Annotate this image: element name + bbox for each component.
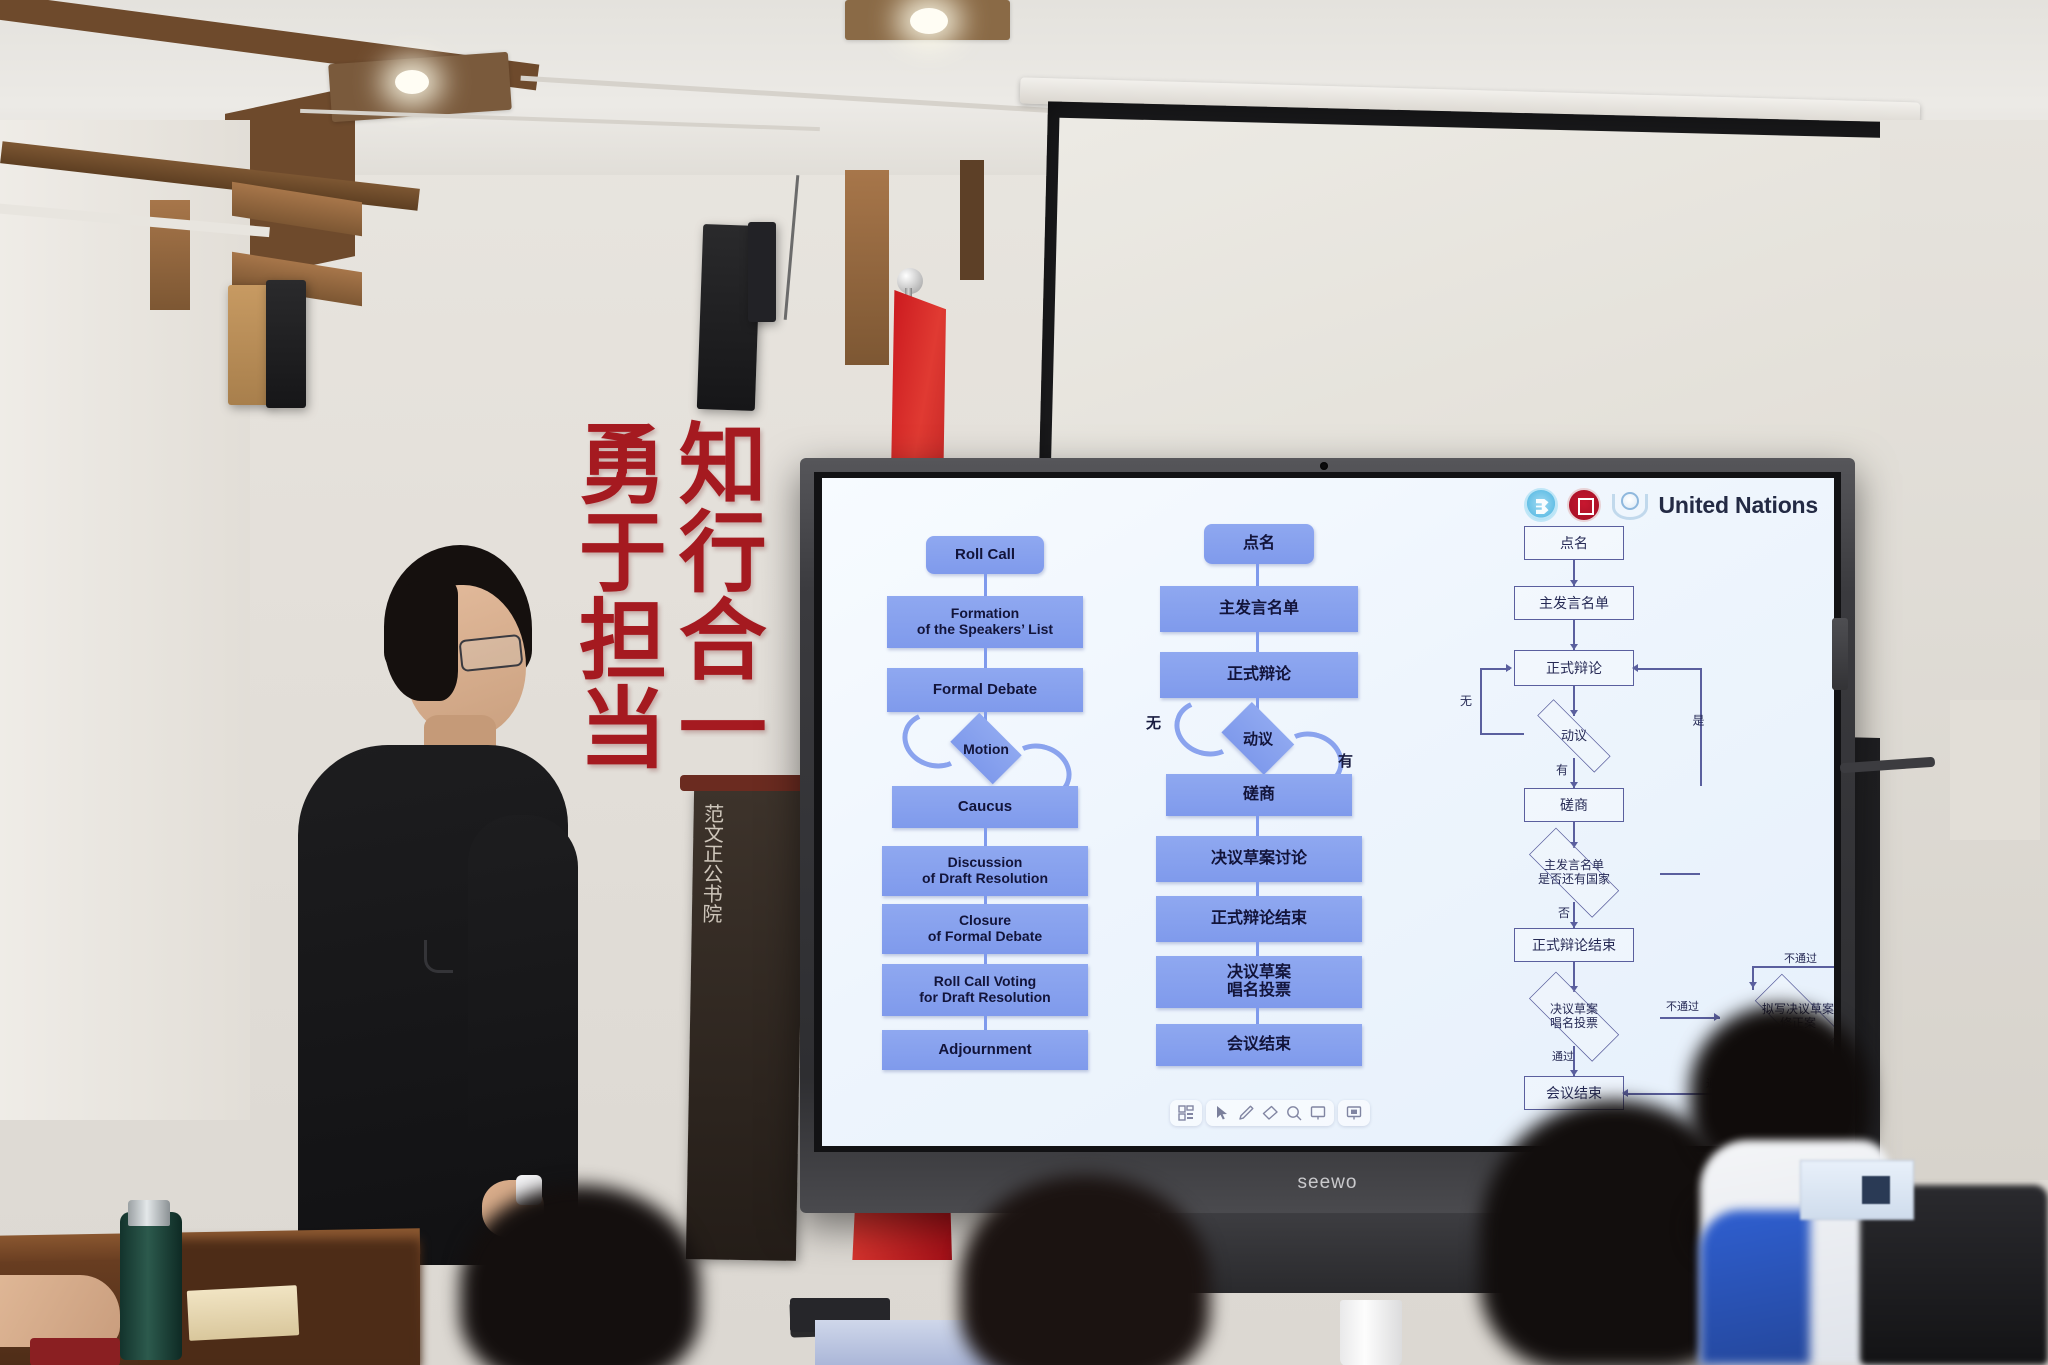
dt-ln-amend-top xyxy=(1752,966,1834,968)
calligraphy-text: 范文正公书院 xyxy=(692,789,732,938)
screen-icon[interactable] xyxy=(1307,1103,1329,1123)
wall-right-panel xyxy=(1880,120,2048,1180)
presenter-glasses xyxy=(458,634,523,672)
dt-tag-none: 无 xyxy=(1460,692,1472,709)
dt-ln-vote-fail xyxy=(1660,1017,1720,1019)
paper-cup xyxy=(1340,1300,1402,1365)
zh-conn-1 xyxy=(1256,564,1259,586)
dt-node-motion: 动议 xyxy=(1518,714,1630,758)
wall-slogan-line-1: 知行合一 xyxy=(672,418,758,770)
classroom-scene: 范文正公书院 知行合一 勇于担当 seewo United Nations Ro… xyxy=(0,0,2048,1365)
zh-tag-no: 无 xyxy=(1146,712,1161,733)
slide-header-title: United Nations xyxy=(1659,492,1818,519)
calligraphy-banner: 范文正公书院 xyxy=(686,789,804,1261)
dt-more-line1: 主发言名单 xyxy=(1544,859,1604,873)
en-voting-line2: for Draft Resolution xyxy=(919,990,1050,1006)
zh-conn-4 xyxy=(1256,816,1259,836)
toolbar-group-tools[interactable] xyxy=(1206,1100,1334,1126)
presenter xyxy=(360,545,680,1265)
zh-node-speakers-list: 主发言名单 xyxy=(1160,586,1358,632)
thermos-bottle xyxy=(120,1212,182,1360)
en-conn-1 xyxy=(984,574,987,596)
school-blue-logo-icon xyxy=(1524,488,1558,522)
en-conn-2 xyxy=(984,648,987,668)
wall-speaker-center-back xyxy=(748,222,776,322)
display-camera xyxy=(1320,462,1328,470)
dt-tag-yes: 是 xyxy=(1690,714,1707,726)
slide-header-logos: United Nations xyxy=(1524,488,1818,522)
zh-conn-7 xyxy=(1256,1008,1259,1024)
en-closure-line1: Closure xyxy=(959,913,1011,929)
en-node-caucus: Caucus xyxy=(892,786,1078,828)
zh-conn-2 xyxy=(1256,632,1259,652)
dt-ln-yes-h xyxy=(1638,668,1701,670)
zh-voting-line2: 唱名投票 xyxy=(1227,982,1291,1000)
wall-notice-qr-icon xyxy=(1862,1176,1890,1204)
en-node-speakers-list: Formation of the Speakers’ List xyxy=(887,596,1083,648)
zh-conn-5 xyxy=(1256,882,1259,896)
flowchart-english: Roll Call Formation of the Speakers’ Lis… xyxy=(878,536,1128,1126)
present-icon[interactable] xyxy=(1343,1103,1365,1123)
ceiling-downlight-1 xyxy=(395,70,429,94)
dt-vote-line1: 决议草案 xyxy=(1550,1003,1598,1017)
dt-ar-no xyxy=(1506,664,1512,672)
dt-node-vote: 决议草案 唱名投票 xyxy=(1488,988,1660,1046)
en-discussion-line1: Discussion xyxy=(948,855,1023,871)
cursor-arrow-icon[interactable] xyxy=(1211,1103,1233,1123)
en-conn-5 xyxy=(984,896,987,904)
zh-node-draft-discussion: 决议草案讨论 xyxy=(1156,836,1362,882)
dt-ln-more-right xyxy=(1660,873,1700,875)
dt-tag-no: 否 xyxy=(1558,904,1570,921)
dt-ar-yes xyxy=(1632,664,1638,672)
dt-node-caucus: 磋商 xyxy=(1524,788,1624,822)
zh-conn-6 xyxy=(1256,942,1259,956)
en-node-adjournment: Adjournment xyxy=(882,1030,1088,1070)
banner-rod xyxy=(680,775,810,791)
apps-grid-icon[interactable] xyxy=(1175,1103,1197,1123)
dt-tag-has: 有 xyxy=(1556,761,1568,778)
university-red-seal-icon xyxy=(1567,488,1601,522)
en-closure-line2: of Formal Debate xyxy=(928,929,1042,945)
dt-ln-yes-v xyxy=(1700,668,1702,786)
wall-trim-right-column-2 xyxy=(960,160,984,280)
magnifier-icon[interactable] xyxy=(1283,1103,1305,1123)
en-node-roll-call: Roll Call xyxy=(926,536,1044,574)
thermos-cap xyxy=(128,1200,170,1226)
open-notebook xyxy=(187,1285,299,1341)
display-side-button-panel[interactable] xyxy=(1832,618,1848,690)
zh-node-roll-call: 点名 xyxy=(1204,524,1314,564)
eraser-icon[interactable] xyxy=(1259,1103,1281,1123)
wall-speaker-left xyxy=(266,280,306,408)
dt-node-roll-call: 点名 xyxy=(1524,526,1624,560)
slide-toolbar[interactable] xyxy=(1170,1100,1370,1126)
zh-node-caucus: 磋商 xyxy=(1166,774,1352,816)
wall-pillar-left xyxy=(0,120,250,1120)
un-emblem-icon xyxy=(1610,488,1650,522)
dt-node-speakers-list: 主发言名单 xyxy=(1514,586,1634,620)
en-voting-line1: Roll Call Voting xyxy=(934,974,1036,990)
en-speakers-list-line2: of the Speakers’ List xyxy=(917,622,1053,638)
zh-node-formal-debate: 正式辩论 xyxy=(1160,652,1358,698)
ceiling-downlight-2 xyxy=(910,8,948,34)
wall-trim-right-column xyxy=(845,170,889,365)
flowchart-chinese: 点名 主发言名单 正式辩论 动议 无 有 磋商 决议草案讨论 正式辩论结 xyxy=(1152,524,1402,1124)
toolbar-group-present[interactable] xyxy=(1338,1100,1370,1126)
zh-node-debate-end: 正式辩论结束 xyxy=(1156,896,1362,942)
wall-notice-card xyxy=(1800,1160,1914,1220)
dt-tag-pass: 通过 xyxy=(1552,1048,1574,1064)
zh-tag-yes: 有 xyxy=(1338,750,1353,771)
audience-blue-shoulder xyxy=(1700,1210,1810,1365)
audience-hand-left xyxy=(0,1275,120,1347)
presenter-logo-mark xyxy=(424,940,453,973)
dt-ar-amend xyxy=(1749,982,1757,988)
en-node-formal-debate: Formal Debate xyxy=(887,668,1083,712)
zh-node-adjourn: 会议结束 xyxy=(1156,1024,1362,1066)
dt-node-debate-end: 正式辩论结束 xyxy=(1514,928,1634,962)
dt-vote-line2: 唱名投票 xyxy=(1550,1017,1598,1031)
toolbar-group-apps[interactable] xyxy=(1170,1100,1202,1126)
en-node-roll-call-voting: Roll Call Voting for Draft Resolution xyxy=(882,964,1088,1016)
dt-tag-fail-2: 不通过 xyxy=(1784,950,1817,966)
presenter-hair-side xyxy=(384,581,458,701)
dt-ar-end xyxy=(1622,1089,1628,1097)
zh-voting-line1: 决议草案 xyxy=(1227,964,1291,982)
phone-on-table xyxy=(30,1338,120,1365)
en-node-discussion: Discussion of Draft Resolution xyxy=(882,846,1088,896)
presentation-slide: United Nations Roll Call Formation of th… xyxy=(822,478,1834,1146)
en-speakers-list-line1: Formation xyxy=(951,606,1019,622)
en-discussion-line2: of Draft Resolution xyxy=(922,871,1048,887)
dt-tag-fail: 不通过 xyxy=(1666,998,1699,1014)
dt-node-formal-debate: 正式辩论 xyxy=(1514,650,1634,686)
en-conn-4 xyxy=(984,828,987,846)
en-conn-6 xyxy=(984,954,987,964)
en-conn-7 xyxy=(984,1016,987,1030)
pen-icon[interactable] xyxy=(1235,1103,1257,1123)
en-node-closure: Closure of Formal Debate xyxy=(882,904,1088,954)
wall-right-trim xyxy=(1950,700,2040,840)
dt-motion-label: 动议 xyxy=(1518,714,1630,758)
dt-node-more-countries: 主发言名单 是否还有国家 xyxy=(1488,844,1660,902)
dt-more-line2: 是否还有国家 xyxy=(1538,873,1610,887)
zh-node-voting: 决议草案 唱名投票 xyxy=(1156,956,1362,1008)
dt-ln-no-v xyxy=(1480,668,1482,734)
